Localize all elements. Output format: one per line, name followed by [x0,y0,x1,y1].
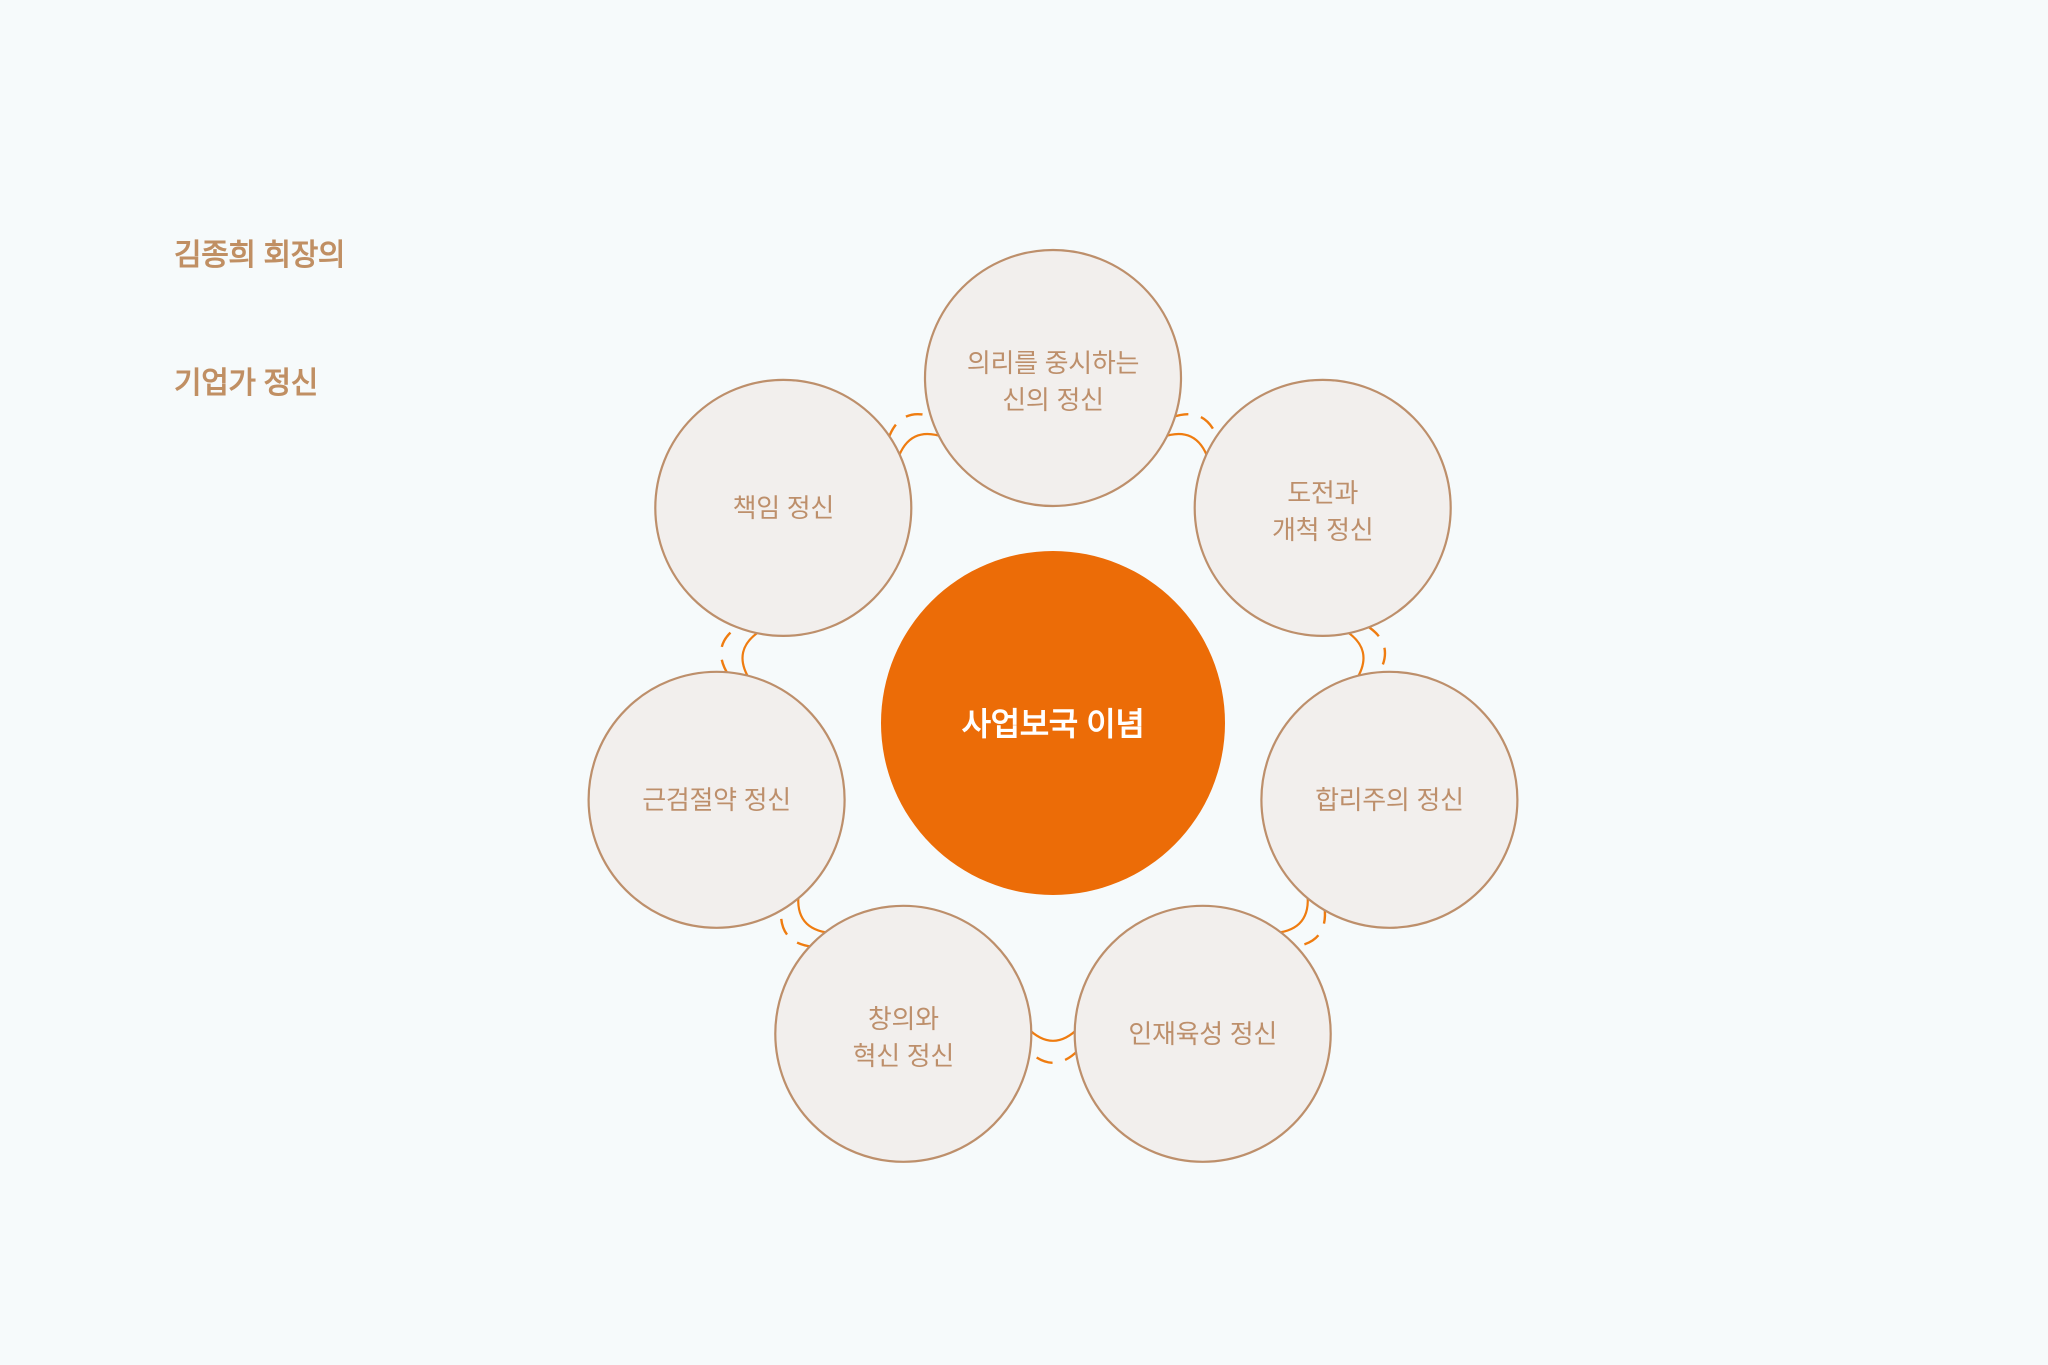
node-geungeom[interactable]: 근검절약 정신 [589,672,845,928]
node-label-dojeon-line-2: 개척 정신 [1272,515,1373,545]
node-label-chaegim: 책임 정신 [733,493,834,523]
node-circle-sinui[interactable] [925,250,1181,506]
node-label-geungeom: 근검절약 정신 [642,785,791,815]
connector-solid [1275,893,1307,933]
connector-dashed [781,907,813,947]
diagram-canvas: 김종희 회장의 기업가 정신 의리를 중시하는신의 정신도전과개척 정신합리주의… [0,0,2048,1365]
node-changui[interactable]: 창의와혁신 정신 [775,906,1031,1162]
node-label-injae: 인재육성 정신 [1128,1019,1277,1049]
connector-dashed [888,414,934,440]
connector-dashed [1366,625,1385,675]
connector-dashed [1172,414,1218,440]
connector-solid [1027,1028,1078,1041]
hub-node: 사업보국 이념 [881,551,1225,895]
connector-dashed [1027,1050,1078,1063]
connector-solid [798,893,830,933]
connector-dashed [721,625,740,675]
connector-solid [1345,630,1364,680]
hub-label: 사업보국 이념 [962,706,1145,742]
node-label-sinui: 의리를 중시하는 [967,348,1139,378]
node-sinui[interactable]: 의리를 중시하는신의 정신 [925,250,1181,506]
node-label-hamnijuui: 합리주의 정신 [1315,785,1464,815]
node-label-sinui-line-2: 신의 정신 [1002,385,1103,415]
node-injae[interactable]: 인재육성 정신 [1075,906,1331,1162]
node-label-dojeon: 도전과 [1287,478,1358,508]
connector-solid [1162,434,1208,460]
node-label-changui-line-2: 혁신 정신 [853,1041,954,1071]
node-chaegim[interactable]: 책임 정신 [655,380,911,636]
connector-dashed [1293,907,1325,947]
entrepreneurship-circle-diagram: 의리를 중시하는신의 정신도전과개척 정신합리주의 정신인재육성 정신창의와혁신… [0,0,2048,1365]
connector-solid [898,434,944,460]
node-label-changui: 창의와 [868,1004,939,1034]
node-dojeon[interactable]: 도전과개척 정신 [1195,380,1451,636]
node-hamnijuui[interactable]: 합리주의 정신 [1261,672,1517,928]
connector-solid [743,630,762,680]
